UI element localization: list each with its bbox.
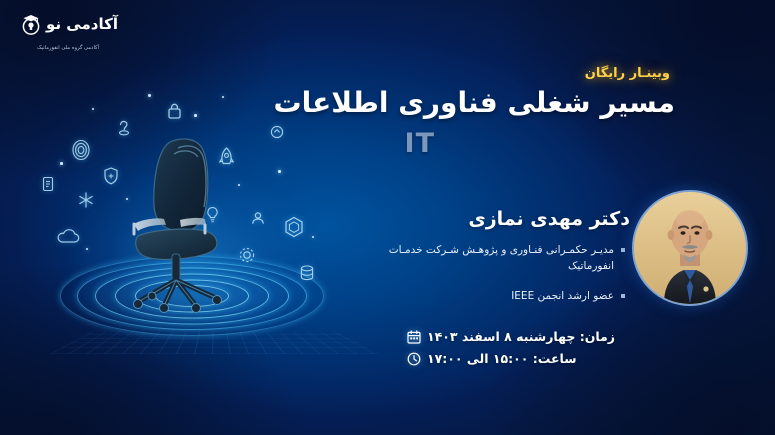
spark-dot xyxy=(126,198,128,200)
spark-dot xyxy=(60,162,63,165)
shield-icon xyxy=(102,166,120,186)
event-date-row: زمان: چهارشنبه ۸ اسفند ۱۴۰۳ xyxy=(407,329,615,344)
bulb-icon xyxy=(206,206,219,224)
spark-dot xyxy=(86,248,88,250)
spark-dot xyxy=(312,236,314,238)
question-mark-icon xyxy=(114,118,134,140)
spark-dot xyxy=(222,96,224,98)
event-time-text: ساعت: ۱۵:۰۰ الی ۱۷:۰۰ xyxy=(427,351,577,366)
event-time-row: ساعت: ۱۵:۰۰ الی ۱۷:۰۰ xyxy=(407,351,615,366)
spark-dot xyxy=(148,94,151,97)
spark-dot xyxy=(278,170,281,173)
brand-tagline: آکادمی گروه ملی انفورماتیک xyxy=(37,45,99,51)
calendar-icon xyxy=(407,330,421,344)
document-icon xyxy=(42,176,54,192)
clock-icon xyxy=(407,352,421,366)
hexagon-chip-icon xyxy=(284,216,304,238)
page-title: مسیر شغلی فناوری اطلاعات xyxy=(274,86,676,119)
fingerprint-icon xyxy=(70,138,92,162)
rocket-icon xyxy=(218,146,235,170)
spark-dot xyxy=(238,184,240,186)
spark-dot xyxy=(92,108,94,110)
gear-icon xyxy=(238,246,256,264)
brand-logo[interactable]: آکادمی نو آکادمی گروه ملی انفورماتیک xyxy=(12,8,124,56)
office-chair-illustration xyxy=(112,132,262,318)
cloud-sync-icon xyxy=(266,124,288,140)
spark-dot xyxy=(194,114,197,117)
hero-illustration xyxy=(26,88,356,350)
speaker-name: دکتر مهدی نمازی xyxy=(468,208,630,230)
graduation-cap-icon xyxy=(18,11,44,37)
speaker-credentials: مدیـر حکمـرانی فنـاوری و پژوهـش شـرکت خد… xyxy=(375,242,625,317)
list-item: عضو ارشد انجمن IEEE xyxy=(375,288,625,304)
database-icon xyxy=(298,264,316,282)
brand-logo-row: آکادمی نو xyxy=(12,8,124,40)
snowflake-icon xyxy=(78,192,94,208)
event-meta: زمان: چهارشنبه ۸ اسفند ۱۴۰۳ ساعت: ۱۵:۰۰ … xyxy=(407,329,615,373)
cloud-icon xyxy=(54,228,82,246)
avatar xyxy=(632,190,748,306)
user-icon xyxy=(250,210,266,226)
event-date-text: زمان: چهارشنبه ۸ اسفند ۱۴۰۳ xyxy=(427,329,615,344)
page-title-subtext: IT xyxy=(405,128,435,159)
lock-icon xyxy=(166,102,183,120)
webinar-banner: آکادمی نو آکادمی گروه ملی انفورماتیک xyxy=(0,0,775,435)
brand-logo-text: آکادمی نو xyxy=(46,17,118,32)
list-item: مدیـر حکمـرانی فنـاوری و پژوهـش شـرکت خد… xyxy=(375,242,625,275)
eyebrow-label: وبینـار رایگان xyxy=(585,66,670,81)
